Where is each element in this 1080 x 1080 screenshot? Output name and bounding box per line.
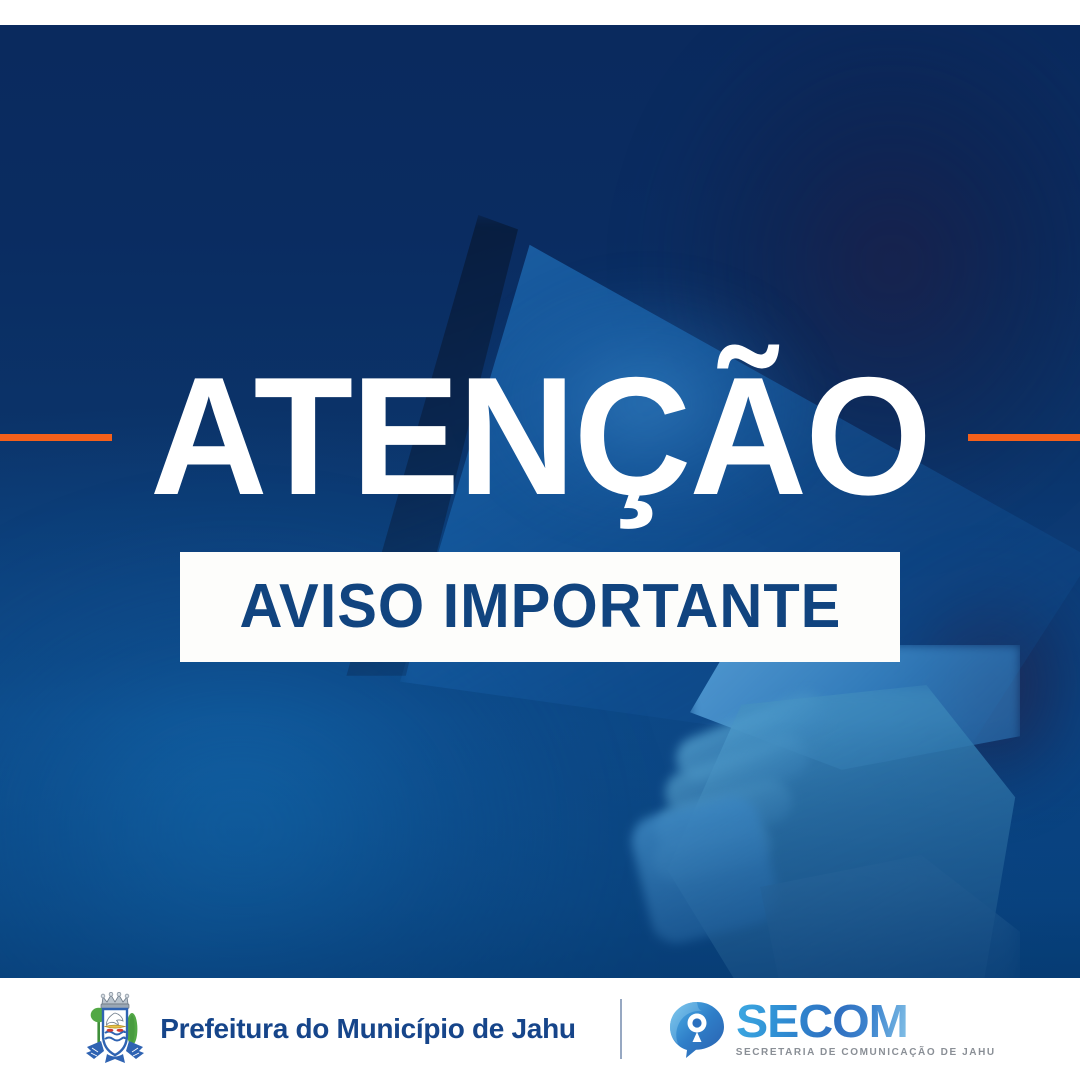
footer-bar: Prefeitura do Município de Jahu — [0, 978, 1080, 1080]
secom-wordmark-block: SECOM SECRETARIA DE COMUNICAÇÃO DE JAHU — [736, 1000, 996, 1058]
secom-wordmark: SECOM — [736, 1000, 908, 1044]
subtitle-text: AVISO IMPORTANTE — [239, 576, 841, 638]
prefeitura-brand: Prefeitura do Município de Jahu — [84, 991, 575, 1067]
secom-brand: SECOM SECRETARIA DE COMUNICAÇÃO DE JAHU — [666, 998, 996, 1060]
prefeitura-label: Prefeitura do Município de Jahu — [160, 1013, 575, 1045]
attention-announcement-poster: ATENÇÃO AVISO IMPORTANTE — [0, 0, 1080, 1080]
secom-tagline: SECRETARIA DE COMUNICAÇÃO DE JAHU — [736, 1047, 996, 1058]
subtitle-plate: AVISO IMPORTANTE — [180, 552, 900, 662]
page-title: ATENÇÃO — [16, 352, 1064, 520]
footer-divider — [620, 999, 622, 1059]
top-white-strip — [0, 0, 1080, 25]
jahu-coat-of-arms-icon — [84, 991, 146, 1067]
secom-speech-pin-icon — [666, 998, 728, 1060]
bottom-shadow-overlay — [0, 718, 1080, 978]
